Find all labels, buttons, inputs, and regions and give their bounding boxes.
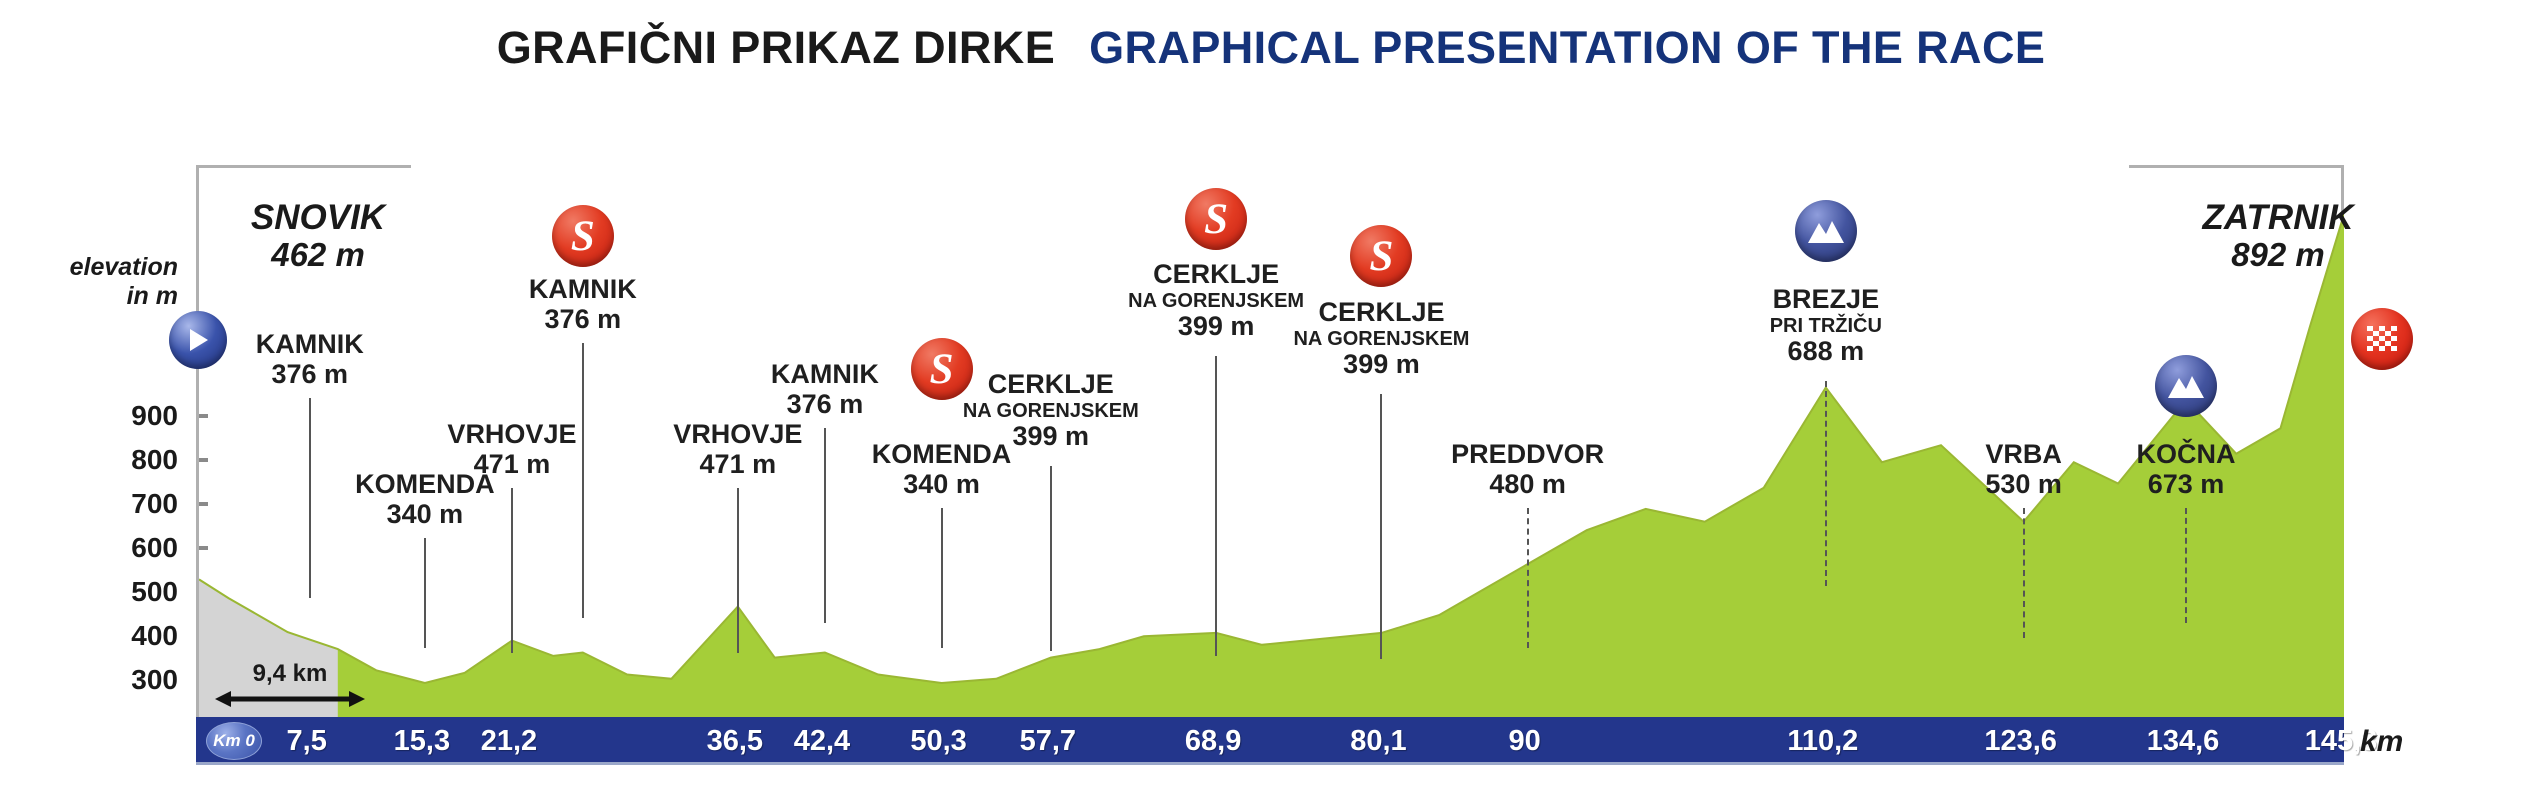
poi-stem — [941, 508, 943, 648]
poi-name-secondary: PRI TRŽIČU — [1770, 315, 1882, 337]
poi-name-secondary: NA GORENJSKEM — [963, 400, 1139, 422]
km-zero-badge: Km 0 — [206, 722, 262, 760]
start-altitude: 462 m — [251, 237, 385, 274]
double-arrow-icon — [215, 688, 365, 710]
finish-terminus-label: ZATRNIK 892 m — [2203, 198, 2354, 274]
poi-stem — [1527, 508, 1529, 648]
poi-label: KAMNIK376 m — [529, 275, 637, 334]
poi-stem — [1050, 466, 1052, 651]
y-tick-400: 400 — [58, 620, 178, 652]
poi-stem — [1825, 381, 1827, 586]
poi-name: VRHOVJE — [447, 420, 576, 450]
start-name: SNOVIK — [251, 198, 385, 237]
poi-stem — [309, 398, 311, 598]
poi-altitude: 376 m — [256, 360, 364, 390]
poi-altitude: 399 m — [1293, 350, 1469, 380]
poi-name-secondary: NA GORENJSKEM — [1293, 328, 1469, 350]
poi-name: VRBA — [1985, 440, 2062, 470]
poi-stem — [1215, 356, 1217, 656]
poi-name: CERKLJE — [963, 370, 1139, 400]
km-tick-80-1: 80,1 — [1350, 725, 1406, 758]
poi-name: KAMNIK — [529, 275, 637, 305]
poi-label: KOČNA673 m — [2137, 440, 2236, 499]
poi-altitude: 480 m — [1451, 470, 1604, 500]
km-tick-36-5: 36,5 — [707, 725, 763, 758]
play-start-icon — [169, 311, 227, 369]
poi-stem — [511, 488, 513, 653]
poi-altitude: 530 m — [1985, 470, 2062, 500]
distance-unit-label: km — [2360, 725, 2403, 759]
km-tick-15-3: 15,3 — [394, 725, 450, 758]
poi-name: KAMNIK — [256, 330, 364, 360]
y-tick-900: 900 — [58, 400, 178, 432]
km-tick-90: 90 — [1508, 725, 1540, 758]
poi-name: CERKLJE — [1128, 260, 1304, 290]
poi-altitude: 376 m — [771, 390, 879, 420]
poi-label: KAMNIK376 m — [771, 360, 879, 419]
poi-name: VRHOVJE — [673, 420, 802, 450]
poi-label: VRHOVJE471 m — [673, 420, 802, 479]
y-axis-label-line2: in m — [28, 282, 178, 311]
poi-stem — [1380, 394, 1382, 659]
poi-altitude: 340 m — [355, 500, 495, 530]
y-tick-700: 700 — [58, 488, 178, 520]
finish-altitude: 892 m — [2203, 237, 2354, 274]
poi-label: CERKLJENA GORENJSKEM399 m — [1293, 298, 1469, 379]
title-english: GRAPHICAL PRESENTATION OF THE RACE — [1089, 22, 2045, 74]
y-tick-600: 600 — [58, 532, 178, 564]
sprint-icon: S — [1185, 188, 1247, 250]
finish-name: ZATRNIK — [2203, 198, 2354, 237]
checkered-flag-finish-icon — [2351, 308, 2413, 370]
poi-label: CERKLJENA GORENJSKEM399 m — [1128, 260, 1304, 341]
page-title: GRAFIČNI PRIKAZ DIRKE GRAPHICAL PRESENTA… — [0, 22, 2542, 74]
poi-altitude: 340 m — [872, 470, 1012, 500]
neutral-zone-marker: 9,4 km — [215, 660, 365, 715]
km-tick-42-4: 42,4 — [794, 725, 850, 758]
sprint-icon: S — [552, 205, 614, 267]
race-profile-page: GRAFIČNI PRIKAZ DIRKE GRAPHICAL PRESENTA… — [0, 0, 2542, 802]
poi-label: BREZJEPRI TRŽIČU688 m — [1770, 285, 1882, 366]
poi-altitude: 673 m — [2137, 470, 2236, 500]
mountain-icon — [1795, 200, 1857, 262]
km-tick-68-9: 68,9 — [1185, 725, 1241, 758]
poi-stem — [582, 343, 584, 618]
poi-stem — [824, 428, 826, 623]
poi-label: VRBA530 m — [1985, 440, 2062, 499]
start-terminus-label: SNOVIK 462 m — [251, 198, 385, 274]
distance-axis-bar: Km 07,515,321,236,542,450,357,768,980,19… — [196, 717, 2344, 765]
poi-stem — [2023, 508, 2025, 638]
km-tick-7-5: 7,5 — [287, 725, 327, 758]
poi-altitude: 688 m — [1770, 337, 1882, 367]
km-tick-21-2: 21,2 — [481, 725, 537, 758]
poi-name-secondary: NA GORENJSKEM — [1128, 290, 1304, 312]
sprint-icon: S — [1350, 225, 1412, 287]
neutral-zone-label: 9,4 km — [215, 660, 365, 688]
poi-label: KAMNIK376 m — [256, 330, 364, 389]
mountain-icon — [2155, 355, 2217, 417]
y-tick-500: 500 — [58, 576, 178, 608]
poi-label: CERKLJENA GORENJSKEM399 m — [963, 370, 1139, 451]
poi-stem — [424, 538, 426, 648]
poi-name: PREDDVOR — [1451, 440, 1604, 470]
poi-stem — [737, 488, 739, 653]
y-axis-label: elevation in m — [28, 253, 178, 311]
poi-stem — [2185, 508, 2187, 623]
poi-name: CERKLJE — [1293, 298, 1469, 328]
poi-altitude: 471 m — [673, 450, 802, 480]
poi-label: PREDDVOR480 m — [1451, 440, 1604, 499]
y-axis-label-line1: elevation — [28, 253, 178, 282]
poi-altitude: 376 m — [529, 305, 637, 335]
poi-altitude: 399 m — [1128, 312, 1304, 342]
poi-altitude: 471 m — [447, 450, 576, 480]
title-slovene: GRAFIČNI PRIKAZ DIRKE — [497, 22, 1055, 74]
poi-label: VRHOVJE471 m — [447, 420, 576, 479]
y-tick-800: 800 — [58, 444, 178, 476]
poi-name: KOČNA — [2137, 440, 2236, 470]
poi-altitude: 399 m — [963, 422, 1139, 452]
km-tick-110-2: 110,2 — [1787, 725, 1858, 758]
km-tick-57-7: 57,7 — [1020, 725, 1076, 758]
km-tick-134-6: 134,6 — [2147, 725, 2220, 758]
km-tick-123-6: 123,6 — [1984, 725, 2057, 758]
poi-name: KAMNIK — [771, 360, 879, 390]
y-tick-300: 300 — [58, 664, 178, 696]
km-tick-50-3: 50,3 — [910, 725, 966, 758]
poi-name: BREZJE — [1770, 285, 1882, 315]
